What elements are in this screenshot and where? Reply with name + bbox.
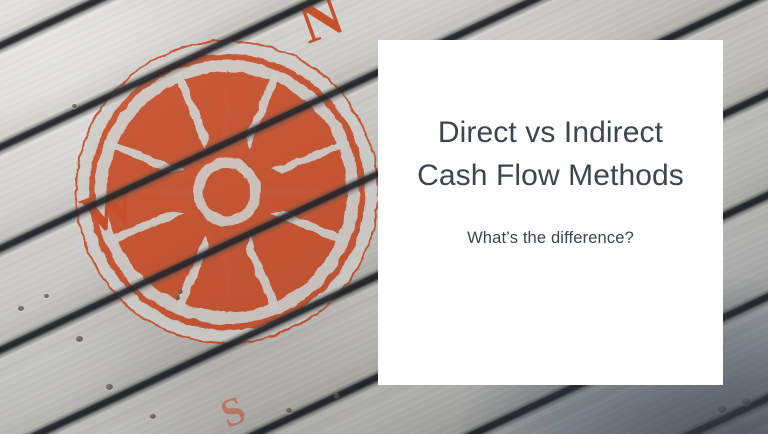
title-line-1: Direct vs Indirect: [400, 112, 701, 155]
deck-screw-hole: [76, 336, 83, 342]
deck-screw-hole: [286, 408, 292, 413]
deck-screw-hole: [106, 384, 113, 390]
subtitle: What’s the difference?: [467, 229, 634, 248]
deck-screw-hole: [178, 290, 183, 294]
deck-screw-hole: [176, 296, 180, 300]
title-line-2: Cash Flow Methods: [400, 155, 701, 198]
deck-screw-hole: [150, 414, 156, 419]
deck-screw-hole: [72, 104, 77, 108]
deck-screw-hole: [18, 306, 24, 311]
text-card: Direct vs Indirect Cash Flow Methods Wha…: [378, 40, 723, 385]
page-title: Direct vs Indirect Cash Flow Methods: [400, 112, 701, 197]
deck-screw-hole: [334, 392, 339, 397]
deck-screw-hole: [44, 294, 49, 298]
header-graphic: N W S Direct vs Indirect Cash Flow Metho…: [0, 0, 768, 434]
